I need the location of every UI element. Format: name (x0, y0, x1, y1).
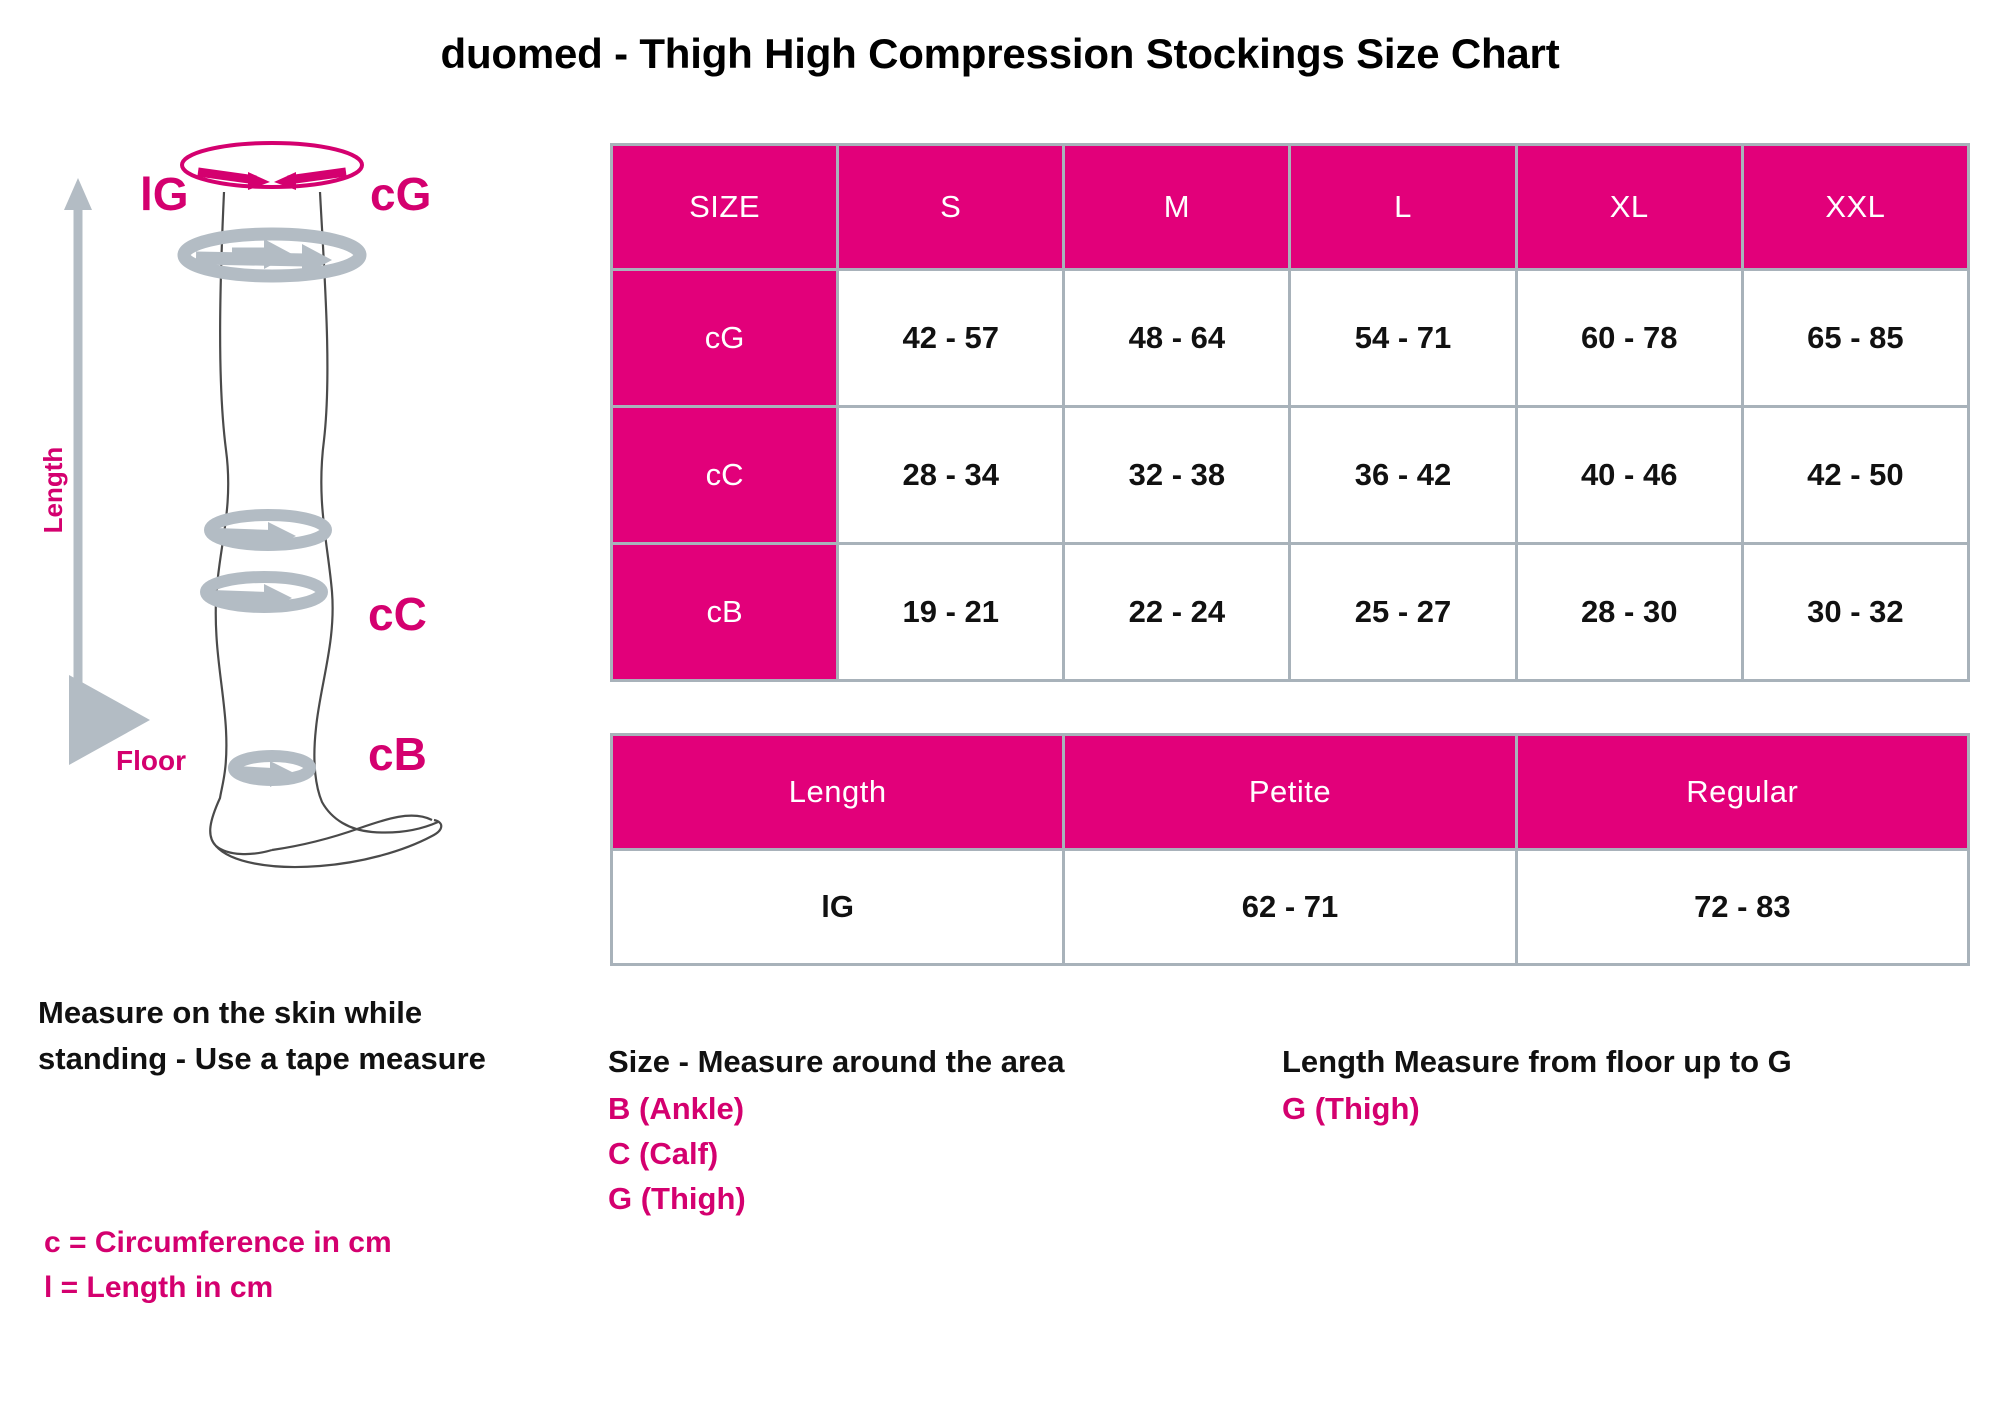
label-length: Length (38, 447, 68, 534)
cell-cb-s: 19 - 21 (838, 544, 1064, 681)
cell-cg-xl: 60 - 78 (1516, 270, 1742, 407)
upper-calf-band-icon (210, 515, 326, 550)
row-header-cc: cC (612, 407, 838, 544)
label-lG: lG (140, 168, 189, 220)
cell-cg-l: 54 - 71 (1290, 270, 1516, 407)
length-chart-table: Length Petite Regular lG 62 - 71 72 - 83 (610, 733, 1970, 966)
cell-cc-xxl: 42 - 50 (1742, 407, 1968, 544)
ankle-band-icon (234, 756, 310, 787)
label-cB: cB (368, 728, 427, 780)
column-header-l: L (1290, 145, 1516, 270)
cell-cb-xxl: 30 - 32 (1742, 544, 1968, 681)
label-cG: cG (370, 168, 431, 220)
column-header-m: M (1064, 145, 1290, 270)
column-header-size: SIZE (612, 145, 838, 270)
page-title: duomed - Thigh High Compression Stocking… (0, 30, 2000, 78)
column-header-petite: Petite (1064, 735, 1516, 850)
cell-cc-s: 28 - 34 (838, 407, 1064, 544)
size-note-item-thigh: G (Thigh) (608, 1177, 1248, 1222)
label-floor: Floor (116, 745, 186, 776)
cell-cg-m: 48 - 64 (1064, 270, 1290, 407)
column-header-s: S (838, 145, 1064, 270)
column-header-regular: Regular (1516, 735, 1968, 850)
cell-lg-regular: 72 - 83 (1516, 850, 1968, 965)
row-header-cb: cB (612, 544, 838, 681)
label-cC: cC (368, 588, 427, 640)
table-row: lG 62 - 71 72 - 83 (612, 850, 1969, 965)
cell-cb-xl: 28 - 30 (1516, 544, 1742, 681)
length-note-item-thigh: G (Thigh) (1282, 1087, 1982, 1132)
table-header-row: Length Petite Regular (612, 735, 1969, 850)
row-header-lg: lG (612, 850, 1064, 965)
legend-length: l = Length in cm (44, 1265, 544, 1310)
thigh-band-icon (184, 234, 360, 276)
size-note-item-calf: C (Calf) (608, 1132, 1248, 1177)
cell-cb-l: 25 - 27 (1290, 544, 1516, 681)
size-measure-note: Size - Measure around the area B (Ankle)… (608, 1040, 1248, 1222)
table-header-row: SIZE S M L XL XXL (612, 145, 1969, 270)
column-header-xxl: XXL (1742, 145, 1968, 270)
size-note-heading: Size - Measure around the area (608, 1040, 1248, 1085)
cell-cg-xxl: 65 - 85 (1742, 270, 1968, 407)
legend-circumference: c = Circumference in cm (44, 1220, 544, 1265)
size-note-item-ankle: B (Ankle) (608, 1087, 1248, 1132)
table-row: cC 28 - 34 32 - 38 36 - 42 40 - 46 42 - … (612, 407, 1969, 544)
table-row: cB 19 - 21 22 - 24 25 - 27 28 - 30 30 - … (612, 544, 1969, 681)
measure-instruction-text: Measure on the skin while standing - Use… (38, 990, 518, 1082)
size-chart-table: SIZE S M L XL XXL cG 42 - 57 48 - 64 54 … (610, 143, 1970, 682)
cell-lg-petite: 62 - 71 (1064, 850, 1516, 965)
cell-cb-m: 22 - 24 (1064, 544, 1290, 681)
column-header-length: Length (612, 735, 1064, 850)
cell-cg-s: 42 - 57 (838, 270, 1064, 407)
column-header-xl: XL (1516, 145, 1742, 270)
length-arrow-icon (64, 178, 92, 722)
length-note-heading: Length Measure from floor up to G (1282, 1040, 1982, 1085)
length-measure-note: Length Measure from floor up to G G (Thi… (1282, 1040, 1982, 1132)
cell-cc-xl: 40 - 46 (1516, 407, 1742, 544)
leg-measurement-diagram: lG cG cC cB Floor Length (20, 130, 560, 920)
calf-band-icon (206, 577, 322, 612)
legend-abbreviations: c = Circumference in cm l = Length in cm (44, 1220, 544, 1310)
cell-cc-l: 36 - 42 (1290, 407, 1516, 544)
cell-cc-m: 32 - 38 (1064, 407, 1290, 544)
table-row: cG 42 - 57 48 - 64 54 - 71 60 - 78 65 - … (612, 270, 1969, 407)
row-header-cg: cG (612, 270, 838, 407)
thigh-circumference-icon (182, 143, 362, 190)
